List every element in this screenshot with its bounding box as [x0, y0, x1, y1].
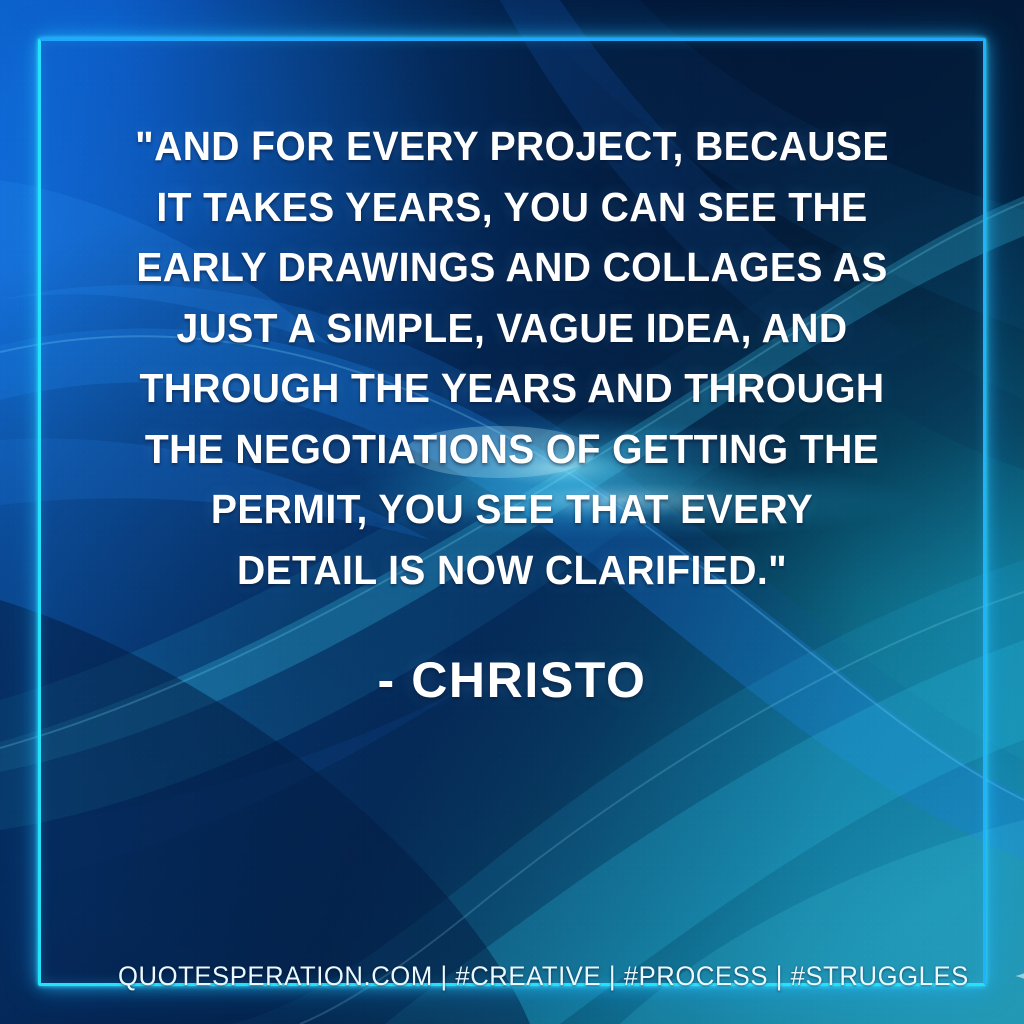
quote-card: "AND FOR EVERY PROJECT, BECAUSE IT TAKES… [0, 0, 1024, 1024]
footer-credits: QUOTESPERATION.COM | #CREATIVE | #PROCES… [118, 961, 969, 992]
footer-bar: QUOTESPERATION.COM | #CREATIVE | #PROCES… [38, 928, 986, 1024]
sparkle-diamond-icon [1014, 950, 1024, 1002]
background-vignette [0, 0, 1024, 1024]
